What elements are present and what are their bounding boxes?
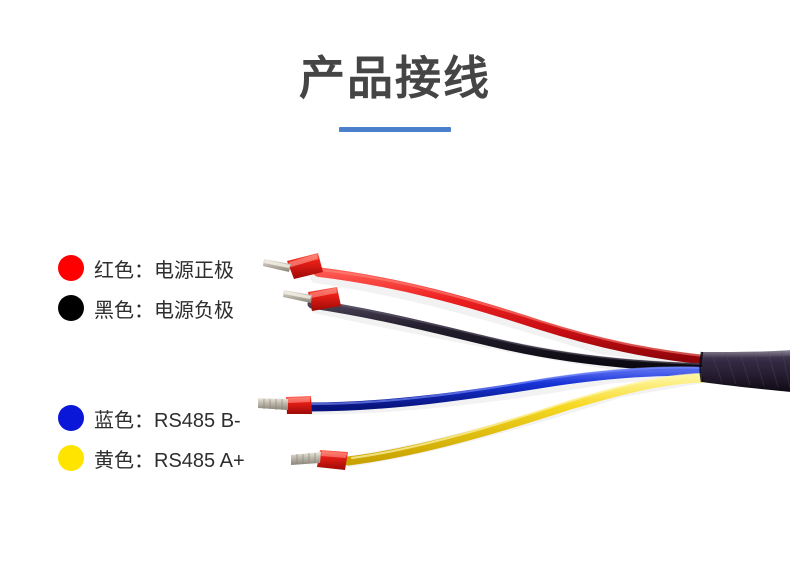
yellow-wire-ferrule-terminal <box>291 450 348 470</box>
blue-wire-pin-icon <box>258 398 288 410</box>
black-wire <box>312 301 706 368</box>
blue-wire <box>308 367 708 407</box>
black-circle-icon <box>58 295 84 321</box>
blue-wire-ferrule-terminal <box>258 396 312 414</box>
legend-group-rs485: 蓝色：RS485 B- 黄色：RS485 A+ <box>58 398 245 478</box>
legend-group-power: 红色：电源正极 黑色：电源负极 <box>58 248 234 328</box>
red-wire-ferrule-terminal <box>263 253 323 279</box>
cable-sheath <box>701 350 790 392</box>
red-wire-pin-icon <box>263 259 291 272</box>
legend-item-blue: 蓝色：RS485 B- <box>58 398 245 438</box>
legend-item-yellow: 黄色：RS485 A+ <box>58 438 245 478</box>
legend-item-blue-label: 蓝色：RS485 B- <box>94 404 241 433</box>
legend-item-red: 红色：电源正极 <box>58 248 234 288</box>
red-wire <box>318 270 706 360</box>
legend-item-black-label: 黑色：电源负极 <box>94 294 234 323</box>
legend-item-black: 黑色：电源负极 <box>58 288 234 328</box>
black-wire-pin-icon <box>283 290 312 303</box>
yellow-wire-pin-icon <box>291 452 321 465</box>
product-wiring-diagram-page: 产品接线 <box>0 0 790 585</box>
legend-item-red-label: 红色：电源正极 <box>94 254 234 283</box>
yellow-wire <box>348 374 710 461</box>
page-header: 产品接线 <box>0 52 790 132</box>
yellow-circle-icon <box>58 445 84 471</box>
page-title: 产品接线 <box>0 52 790 105</box>
wire-shadows <box>306 277 700 462</box>
title-underline-divider <box>339 127 451 132</box>
blue-circle-icon <box>58 405 84 431</box>
red-circle-icon <box>58 255 84 281</box>
black-wire-ferrule-terminal <box>283 287 341 311</box>
legend-item-yellow-label: 黄色：RS485 A+ <box>94 444 245 473</box>
